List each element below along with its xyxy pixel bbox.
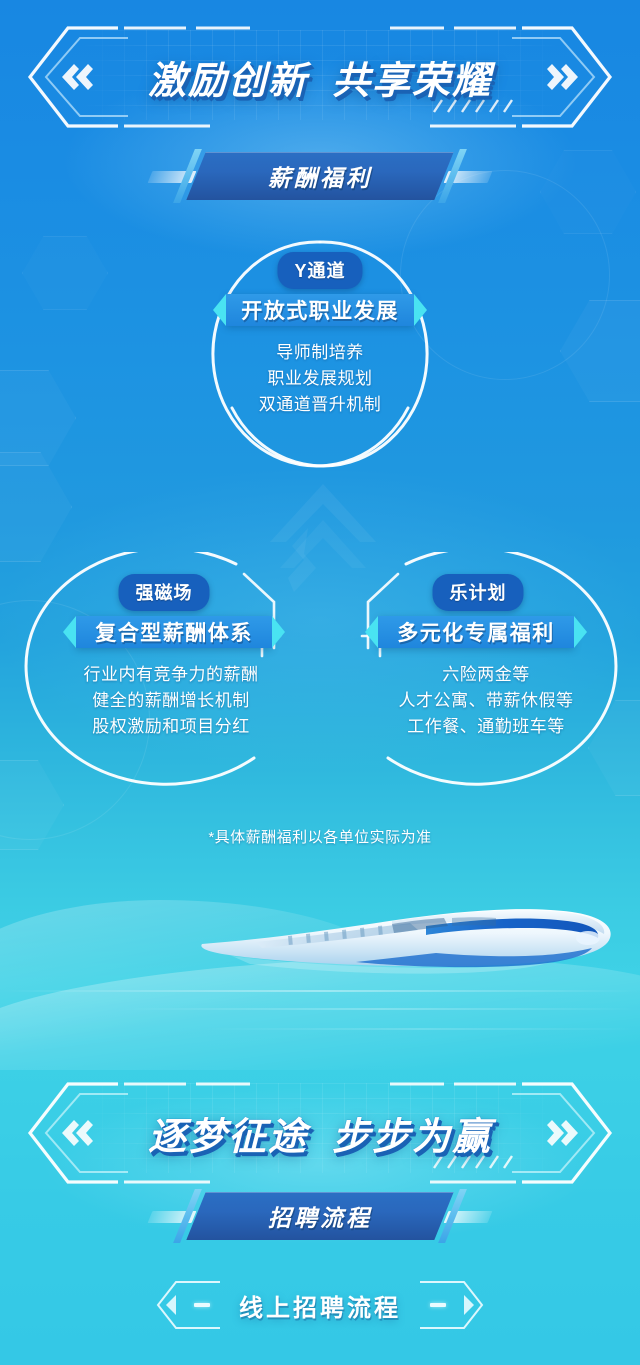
hero-title-bottom: 逐梦征途步步为赢 [0, 1106, 640, 1161]
bullet-item: 导师制培养 [210, 340, 430, 366]
section-label-compensation: 薪酬福利 [0, 152, 640, 200]
speed-line [120, 1008, 640, 1010]
compensation-footnote: *具体薪酬福利以各单位实际为准 [0, 826, 640, 847]
highlight-bar-y-channel: 开放式职业发展 [226, 294, 414, 326]
section-label-recruitment: 招聘流程 [0, 1192, 640, 1240]
bullet-item: 人才公寓、带薪休假等 [352, 688, 620, 714]
speed-line [0, 990, 640, 992]
bullet-item: 六险两金等 [352, 662, 620, 688]
section-banner-recruitment: 招聘流程 [0, 1189, 640, 1243]
hero-title-top-part2: 共享荣耀 [332, 61, 492, 103]
bullet-item: 健全的薪酬增长机制 [30, 688, 312, 714]
hero-banner-bottom: 逐梦征途步步为赢 [0, 1078, 640, 1188]
bullets-strong-magnetic-field: 行业内有竞争力的薪酬 健全的薪酬增长机制 股权激励和项目分红 [30, 662, 312, 740]
badge-joy-plan: 乐计划 [433, 574, 524, 611]
train-scene [0, 840, 640, 1070]
sub-header-online-recruitment: 线上招聘流程 [0, 1278, 640, 1332]
badge-strong-magnetic-field: 强磁场 [119, 574, 210, 611]
sub-header-label: 线上招聘流程 [150, 1278, 490, 1332]
bullet-item: 股权激励和项目分红 [30, 714, 312, 740]
hero-title-top-part1: 激励创新 [148, 61, 308, 103]
bullet-item: 工作餐、通勤班车等 [352, 714, 620, 740]
hero-banner-top: 激励创新共享荣耀 [0, 22, 640, 132]
card-strong-magnetic-field: 强磁场 复合型薪酬体系 行业内有竞争力的薪酬 健全的薪酬增长机制 股权激励和项目… [22, 552, 312, 792]
speed-line [200, 1028, 640, 1030]
bullets-joy-plan: 六险两金等 人才公寓、带薪休假等 工作餐、通勤班车等 [352, 662, 620, 740]
bullets-y-channel: 导师制培养 职业发展规划 双通道晋升机制 [210, 340, 430, 418]
section-banner-compensation: 薪酬福利 [0, 149, 640, 203]
highlight-label-y-channel: 开放式职业发展 [241, 295, 399, 325]
hero-title-top: 激励创新共享荣耀 [0, 50, 640, 105]
highlight-label-joy-plan: 多元化专属福利 [397, 617, 555, 647]
poster-page: 激励创新共享荣耀 薪酬福利 Y通道 开放式职业发展 导师制培养 职业发展规划 双… [0, 0, 640, 1365]
highlight-label-strong-magnetic-field: 复合型薪酬体系 [95, 617, 253, 647]
maglev-train-illustration [196, 896, 616, 980]
hero-title-bottom-part2: 步步为赢 [332, 1117, 492, 1159]
highlight-bar-joy-plan: 多元化专属福利 [378, 616, 574, 648]
card-y-channel: Y通道 开放式职业发展 导师制培养 职业发展规划 双通道晋升机制 [210, 232, 430, 472]
bullet-item: 双通道晋升机制 [210, 392, 430, 418]
sub-header-frame: 线上招聘流程 [150, 1278, 490, 1332]
bullet-item: 职业发展规划 [210, 366, 430, 392]
highlight-bar-strong-magnetic-field: 复合型薪酬体系 [76, 616, 272, 648]
bullet-item: 行业内有竞争力的薪酬 [30, 662, 312, 688]
badge-y-channel: Y通道 [277, 252, 362, 289]
card-joy-plan: 乐计划 多元化专属福利 六险两金等 人才公寓、带薪休假等 工作餐、通勤班车等 [330, 552, 620, 792]
hero-title-bottom-part1: 逐梦征途 [148, 1117, 308, 1159]
